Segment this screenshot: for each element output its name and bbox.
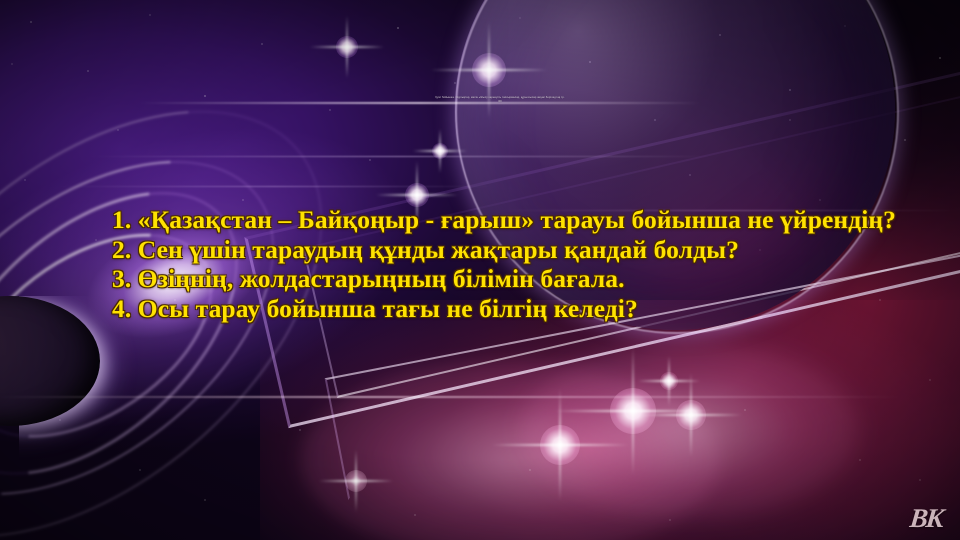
micro-caption: Қуат бойынша. Оқулықтар, мәтін «Жылу кер… <box>400 96 600 104</box>
star-flare-icon-3 <box>432 143 448 159</box>
star-flare-icon-6 <box>540 425 580 465</box>
moon-crescent-rim <box>0 296 100 426</box>
question-item-1: 1. «Қазақстан – Байқоңыр - ғарыш» тарауы… <box>112 205 932 235</box>
star-flare-icon-7 <box>676 400 706 430</box>
question-list: 1. «Қазақстан – Байқоңыр - ғарыш» тарауы… <box>112 205 932 323</box>
star-flare-icon-4 <box>405 183 429 207</box>
star-flare-icon-9 <box>345 470 367 492</box>
star-flare-icon-1 <box>336 36 358 58</box>
question-item-2: 2. Сен үшін тараудың құнды жақтары қанда… <box>112 235 932 265</box>
star-flare-icon-8 <box>660 372 678 390</box>
light-streak-2 <box>90 156 710 157</box>
question-item-4: 4. Осы тарау бойынша тағы не білгің келе… <box>112 294 932 324</box>
star-flare-icon-5 <box>610 388 656 434</box>
bottom-magenta-glow <box>260 300 960 540</box>
light-streak-4 <box>0 396 900 398</box>
star-flare-icon-2 <box>472 53 506 87</box>
dark-moon-icon <box>0 296 100 426</box>
bloom-halo-1 <box>300 360 720 540</box>
watermark-initials: BK <box>908 503 943 534</box>
presentation-slide: Қуат бойынша. Оқулықтар, мәтін «Жылу кер… <box>0 0 960 540</box>
micro-caption-line-2: IRI <box>400 100 600 104</box>
question-item-3: 3. Өзіңнің, жолдастарыңның білімін бағал… <box>112 264 932 294</box>
galaxy-arm-2 <box>0 138 290 529</box>
